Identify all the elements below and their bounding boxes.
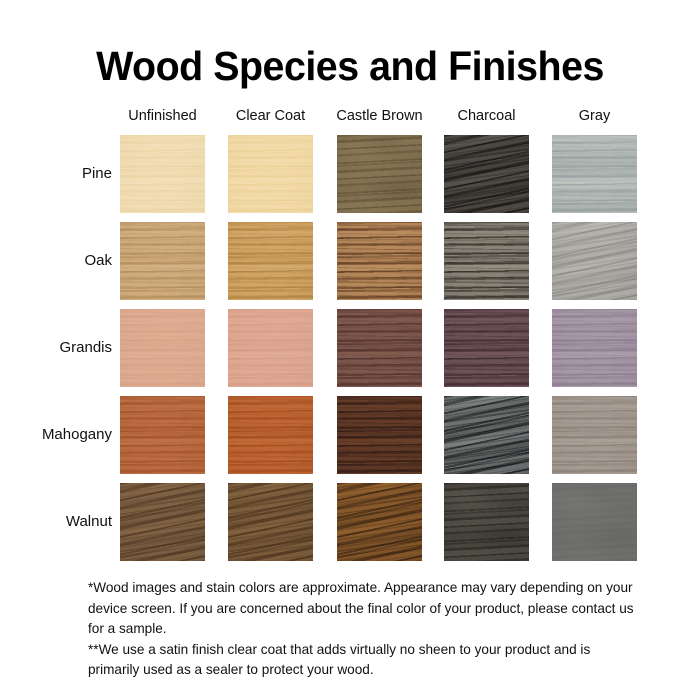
wood-swatch-pine-unfinished[interactable] xyxy=(120,135,205,213)
wood-swatch-pine-charcoal[interactable] xyxy=(444,135,529,213)
wood-swatch-walnut-gray[interactable] xyxy=(552,483,637,561)
wood-swatch-mahogany-castle-brown[interactable] xyxy=(337,396,422,474)
wood-grain-texture xyxy=(120,396,205,474)
wood-grain-texture xyxy=(228,396,313,474)
wood-grain-texture xyxy=(228,222,313,300)
wood-grain-texture xyxy=(552,483,637,561)
wood-grain-texture xyxy=(120,222,205,300)
row-label-walnut: Walnut xyxy=(0,513,112,530)
row-label-oak: Oak xyxy=(0,252,112,269)
column-header-gray: Gray xyxy=(527,108,662,124)
wood-swatch-grandis-unfinished[interactable] xyxy=(120,309,205,387)
row-label-grandis: Grandis xyxy=(0,339,112,356)
wood-swatch-mahogany-gray[interactable] xyxy=(552,396,637,474)
wood-grain-texture xyxy=(120,309,205,387)
wood-swatch-walnut-charcoal[interactable] xyxy=(444,483,529,561)
wood-swatch-walnut-unfinished[interactable] xyxy=(120,483,205,561)
wood-swatch-grandis-gray[interactable] xyxy=(552,309,637,387)
wood-grain-texture xyxy=(228,135,313,213)
row-label-mahogany: Mahogany xyxy=(0,426,112,443)
wood-swatch-grandis-clear-coat[interactable] xyxy=(228,309,313,387)
wood-swatch-grandis-charcoal[interactable] xyxy=(444,309,529,387)
wood-grain-texture xyxy=(552,222,637,300)
wood-grain-texture xyxy=(337,222,422,300)
wood-grain-texture xyxy=(120,483,205,561)
wood-swatch-walnut-clear-coat[interactable] xyxy=(228,483,313,561)
row-label-pine: Pine xyxy=(0,165,112,182)
wood-grain-texture xyxy=(552,135,637,213)
wood-swatch-pine-clear-coat[interactable] xyxy=(228,135,313,213)
wood-grain-texture xyxy=(444,135,529,213)
wood-swatch-oak-unfinished[interactable] xyxy=(120,222,205,300)
wood-grain-texture xyxy=(444,309,529,387)
wood-grain-texture xyxy=(337,309,422,387)
wood-grain-texture xyxy=(228,309,313,387)
wood-grain-texture xyxy=(444,483,529,561)
wood-swatch-oak-clear-coat[interactable] xyxy=(228,222,313,300)
footnotes: *Wood images and stain colors are approx… xyxy=(88,578,636,681)
footnote-approximate-colors: *Wood images and stain colors are approx… xyxy=(88,578,636,640)
wood-grain-texture xyxy=(444,396,529,474)
wood-swatch-grandis-castle-brown[interactable] xyxy=(337,309,422,387)
footnote-satin-clear-coat: **We use a satin finish clear coat that … xyxy=(88,640,636,681)
wood-grain-texture xyxy=(337,483,422,561)
wood-swatch-mahogany-charcoal[interactable] xyxy=(444,396,529,474)
wood-grain-texture xyxy=(552,396,637,474)
wood-swatch-oak-gray[interactable] xyxy=(552,222,637,300)
wood-swatch-mahogany-clear-coat[interactable] xyxy=(228,396,313,474)
wood-swatch-oak-charcoal[interactable] xyxy=(444,222,529,300)
wood-grain-texture xyxy=(444,222,529,300)
wood-grain-texture xyxy=(120,135,205,213)
wood-swatch-walnut-castle-brown[interactable] xyxy=(337,483,422,561)
wood-swatch-pine-castle-brown[interactable] xyxy=(337,135,422,213)
wood-swatch-mahogany-unfinished[interactable] xyxy=(120,396,205,474)
page-title: Wood Species and Finishes xyxy=(14,42,686,90)
wood-grain-texture xyxy=(337,396,422,474)
wood-swatch-oak-castle-brown[interactable] xyxy=(337,222,422,300)
wood-swatch-pine-gray[interactable] xyxy=(552,135,637,213)
wood-grain-texture xyxy=(337,135,422,213)
wood-grain-texture xyxy=(552,309,637,387)
wood-grain-texture xyxy=(228,483,313,561)
